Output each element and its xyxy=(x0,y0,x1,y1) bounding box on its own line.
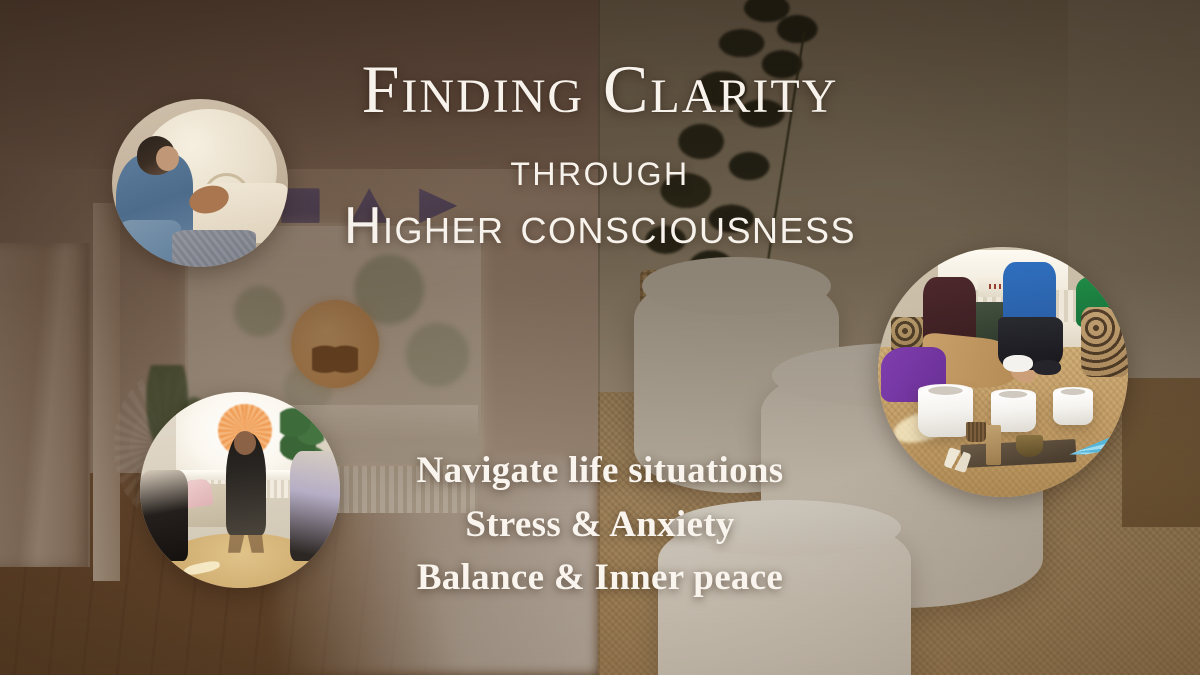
poster-canvas: Finding Clarity through Higher conscious… xyxy=(0,0,1200,675)
benefit-item: Navigate life situations xyxy=(0,444,1200,498)
page-title: Finding Clarity xyxy=(0,54,1200,125)
page-subtitle: Higher consciousness xyxy=(0,196,1200,256)
benefits-list: Navigate life situations Stress & Anxiet… xyxy=(0,444,1200,605)
benefit-item: Stress & Anxiety xyxy=(0,498,1200,552)
benefit-item: Balance & Inner peace xyxy=(0,551,1200,605)
title-connector: through xyxy=(0,142,1200,196)
text-layer: Finding Clarity through Higher conscious… xyxy=(0,0,1200,675)
